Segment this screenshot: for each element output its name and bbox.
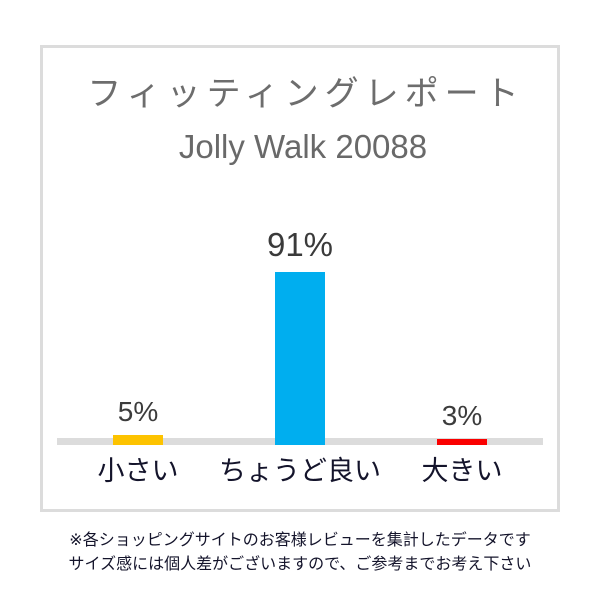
- bar-just-right: [275, 272, 325, 445]
- category-label-large: 大きい: [381, 449, 543, 488]
- fitting-report-screenshot: フィッティングレポート Jolly Walk 20088 5% 小さい 91% …: [0, 0, 600, 600]
- bar-stack: 3%: [381, 105, 543, 445]
- report-card: フィッティングレポート Jolly Walk 20088 5% 小さい 91% …: [40, 45, 560, 512]
- bar-value-label-small: 5%: [118, 398, 158, 426]
- footnote: ※各ショッピングサイトのお客様レビューを集計したデータです サイズ感には個人差が…: [0, 528, 600, 576]
- category-label-just-right: ちょうど良い: [219, 449, 381, 488]
- bar-group-just-right: 91%: [219, 105, 381, 445]
- footnote-line-1: ※各ショッピングサイトのお客様レビューを集計したデータです: [0, 528, 600, 552]
- bar-group-large: 3%: [381, 105, 543, 445]
- bar-small: [113, 435, 163, 445]
- bar-group-small: 5%: [57, 105, 219, 445]
- bar-value-label-just-right: 91%: [267, 228, 333, 261]
- footnote-line-2: サイズ感には個人差がございますので、ご参考までお考え下さい: [0, 552, 600, 576]
- bar-stack: 91%: [219, 105, 381, 445]
- bar-chart-plot-area: 5% 小さい 91% ちょうど良い 3% 大きい: [57, 48, 543, 512]
- bar-large: [437, 439, 487, 445]
- bar-value-label-large: 3%: [442, 402, 482, 430]
- bar-stack: 5%: [57, 105, 219, 445]
- category-label-small: 小さい: [57, 449, 219, 488]
